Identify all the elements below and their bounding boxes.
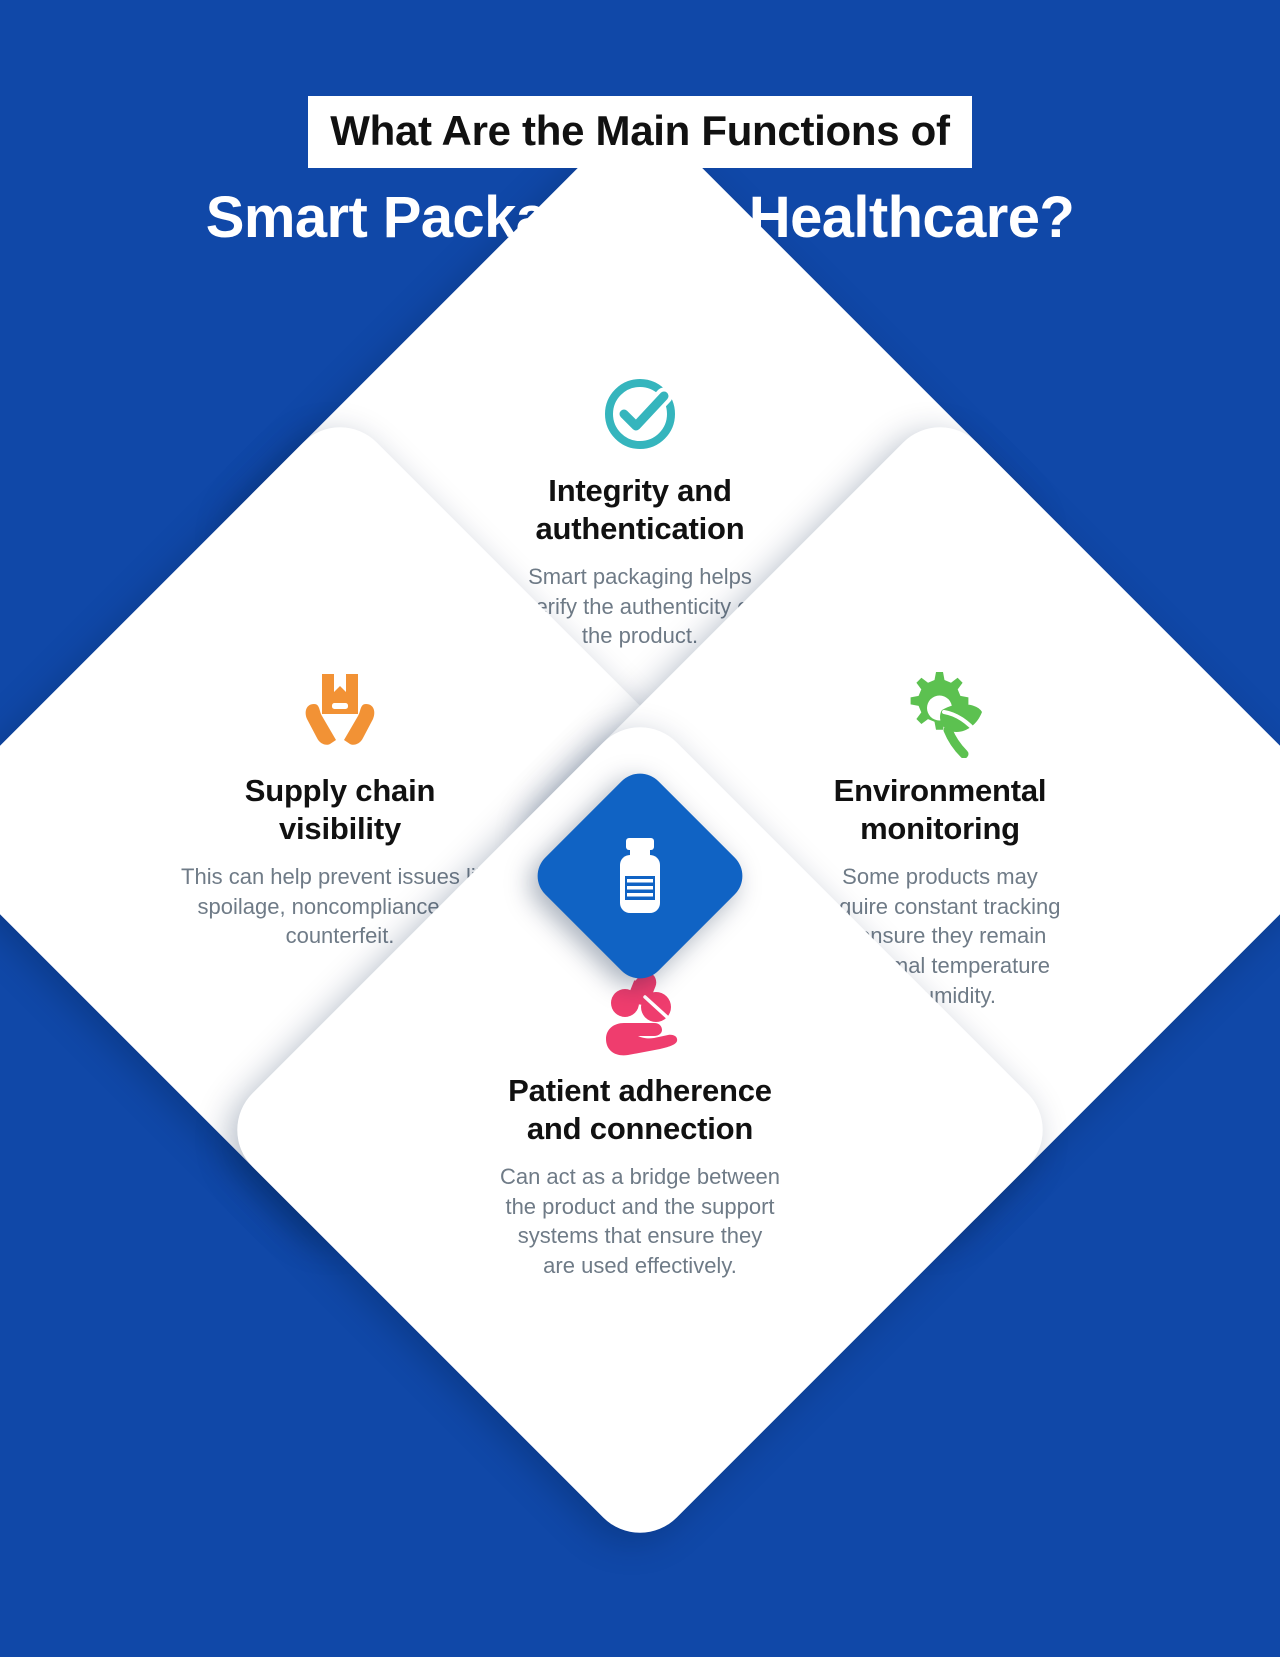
page-title: What Are the Main Functions of Smart Pac… — [0, 96, 1280, 249]
card-title: Patient adherence and connection — [430, 1072, 850, 1148]
check-circle-icon — [430, 364, 850, 460]
headline-line-2: Smart Packaging in Healthcare? — [0, 188, 1280, 249]
headline-line-1: What Are the Main Functions of — [308, 96, 971, 168]
gear-leaf-icon — [730, 664, 1150, 760]
medicine-vial-icon — [612, 838, 668, 914]
hands-holding-box-icon — [130, 664, 550, 760]
card-body: Can act as a bridge between the product … — [430, 1162, 850, 1282]
diamond-cluster: Integrity and authentication Smart packa… — [50, 318, 1230, 1478]
